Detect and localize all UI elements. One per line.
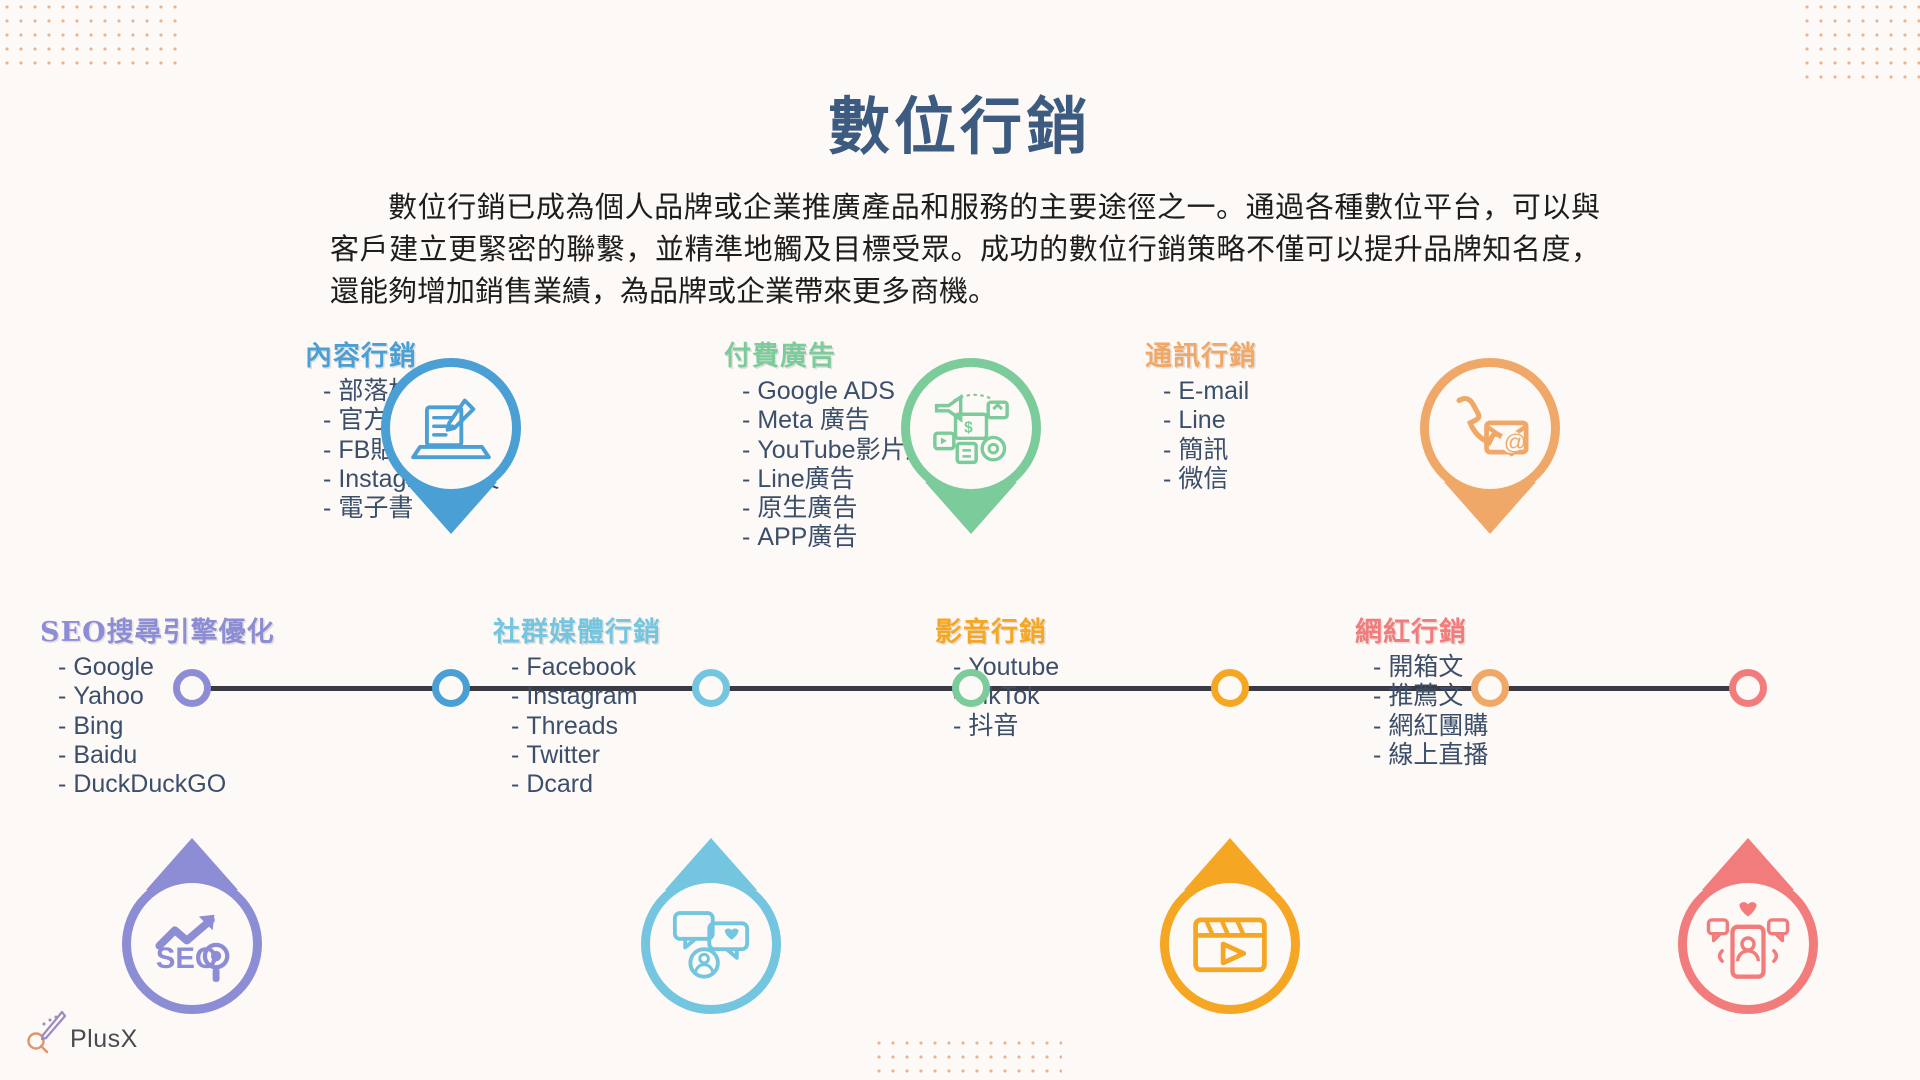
- list-bullet-dash: -: [323, 377, 331, 405]
- timeline-node-dot-messaging[interactable]: [1471, 669, 1509, 707]
- list-bullet-dash: -: [1373, 682, 1381, 710]
- label-list-seo: -Google-Yahoo-Bing-Baidu-DuckDuckGO: [40, 653, 275, 799]
- list-item: -微信: [1163, 465, 1257, 494]
- list-bullet-dash: -: [58, 712, 66, 740]
- timeline-node-dot-video[interactable]: [1211, 669, 1249, 707]
- timeline-pin-influencer[interactable]: [1678, 874, 1818, 1014]
- brand-name: PlusX: [70, 1025, 138, 1054]
- pin-circle-social: [641, 874, 781, 1014]
- list-item: -網紅團購: [1373, 712, 1488, 741]
- list-item: -DuckDuckGO: [58, 770, 275, 799]
- list-bullet-dash: -: [323, 406, 331, 434]
- list-bullet-dash: -: [58, 653, 66, 681]
- list-item: -E-mail: [1163, 377, 1257, 406]
- list-bullet-dash: -: [511, 712, 519, 740]
- brand-logo: PlusX: [22, 1008, 138, 1054]
- list-item: -抖音: [953, 712, 1059, 741]
- label-list-social: -Facebook-Instagram-Threads-Twitter-Dcar…: [493, 653, 661, 799]
- document-pen-laptop-icon: [408, 385, 494, 471]
- list-item: -Dcard: [511, 770, 661, 799]
- list-bullet-dash: -: [511, 682, 519, 710]
- page-title: 數位行銷: [0, 76, 1920, 166]
- list-bullet-dash: -: [511, 770, 519, 798]
- svg-text:$: $: [964, 419, 973, 436]
- list-bullet-dash: -: [511, 653, 519, 681]
- list-bullet-dash: -: [58, 682, 66, 710]
- timeline-node-dot-influencer[interactable]: [1729, 669, 1767, 707]
- dot-grid-top-right: [1800, 0, 1920, 80]
- pin-circle-paid: $: [901, 358, 1041, 498]
- list-item: -Twitter: [511, 741, 661, 770]
- timeline-pin-seo[interactable]: SEO: [122, 874, 262, 1014]
- list-bullet-dash: -: [1163, 436, 1171, 464]
- label-title-social: 社群媒體行銷: [493, 610, 661, 649]
- list-bullet-dash: -: [1373, 741, 1381, 769]
- pin-circle-video: [1160, 874, 1300, 1014]
- list-item: -Facebook: [511, 653, 661, 682]
- timeline-pin-video[interactable]: [1160, 874, 1300, 1014]
- list-item: -Bing: [58, 712, 275, 741]
- list-bullet-dash: -: [1373, 712, 1381, 740]
- timeline-pin-content[interactable]: [381, 358, 521, 498]
- list-bullet-dash: -: [742, 436, 750, 464]
- pin-circle-influencer: [1678, 874, 1818, 1014]
- timeline-node-dot-social[interactable]: [692, 669, 730, 707]
- list-bullet-dash: -: [742, 523, 750, 551]
- label-title-video: 影音行銷: [935, 610, 1059, 649]
- list-bullet-dash: -: [1373, 653, 1381, 681]
- label-title-seo: SEO搜尋引擎優化: [40, 610, 275, 649]
- list-item: -Line: [1163, 406, 1257, 435]
- label-title-messaging: 通訊行銷: [1145, 334, 1257, 373]
- pin-circle-messaging: @: [1420, 358, 1560, 498]
- list-item: -Yahoo: [58, 682, 275, 711]
- timeline-node-dot-seo[interactable]: [173, 669, 211, 707]
- list-item: -線上直播: [1373, 741, 1488, 770]
- list-bullet-dash: -: [323, 436, 331, 464]
- list-item: -Google: [58, 653, 275, 682]
- list-bullet-dash: -: [742, 465, 750, 493]
- video-play-clapper-icon: [1187, 901, 1273, 987]
- pin-circle-seo: SEO: [122, 874, 262, 1014]
- list-bullet-dash: -: [1163, 377, 1171, 405]
- timeline-node-dot-content[interactable]: [432, 669, 470, 707]
- list-bullet-dash: -: [323, 494, 331, 522]
- timeline-label-influencer: 網紅行銷-開箱文-推薦文-網紅團購-線上直播: [1355, 610, 1488, 770]
- dot-grid-bottom-center: [872, 1036, 1062, 1080]
- timeline-label-messaging: 通訊行銷-E-mail-Line-簡訊-微信: [1145, 334, 1257, 494]
- phone-person-chat-icon: [1705, 901, 1791, 987]
- timeline-label-seo: SEO搜尋引擎優化-Google-Yahoo-Bing-Baidu-DuckDu…: [40, 610, 275, 799]
- list-bullet-dash: -: [58, 741, 66, 769]
- timeline-node-dot-paid[interactable]: [952, 669, 990, 707]
- list-bullet-dash: -: [742, 494, 750, 522]
- timeline-pin-paid[interactable]: $: [901, 358, 1041, 498]
- list-bullet-dash: -: [323, 465, 331, 493]
- list-item: -APP廣告: [742, 523, 956, 552]
- list-item: -原生廣告: [742, 494, 956, 523]
- pin-circle-content: [381, 358, 521, 498]
- list-item: -開箱文: [1373, 653, 1488, 682]
- intro-paragraph: 數位行銷已成為個人品牌或企業推廣產品和服務的主要途徑之一。通過各種數位平台，可以…: [330, 186, 1600, 312]
- svg-text:@: @: [1504, 430, 1527, 455]
- list-item: -Baidu: [58, 741, 275, 770]
- label-list-messaging: -E-mail-Line-簡訊-微信: [1145, 377, 1257, 494]
- list-bullet-dash: -: [511, 741, 519, 769]
- timeline-pin-messaging[interactable]: @: [1420, 358, 1560, 498]
- label-title-influencer: 網紅行銷: [1355, 610, 1488, 649]
- list-item: -Threads: [511, 712, 661, 741]
- list-bullet-dash: -: [1163, 406, 1171, 434]
- timeline-label-video: 影音行銷-Youtube-TikTok-抖音: [935, 610, 1059, 741]
- megaphone-monitor-ads-icon: $: [928, 385, 1014, 471]
- timeline-label-social: 社群媒體行銷-Facebook-Instagram-Threads-Twitte…: [493, 610, 661, 799]
- list-bullet-dash: -: [953, 712, 961, 740]
- dot-grid-top-left: [0, 0, 186, 68]
- timeline-pin-social[interactable]: [641, 874, 781, 1014]
- list-bullet-dash: -: [742, 377, 750, 405]
- label-list-influencer: -開箱文-推薦文-網紅團購-線上直播: [1355, 653, 1488, 770]
- seo-chart-magnifier-icon: SEO: [149, 901, 235, 987]
- list-bullet-dash: -: [742, 406, 750, 434]
- list-item: -Instagram: [511, 682, 661, 711]
- list-bullet-dash: -: [58, 770, 66, 798]
- magnifier-pencil-logo-icon: [22, 1008, 68, 1054]
- list-item: -簡訊: [1163, 436, 1257, 465]
- phone-envelope-at-icon: @: [1447, 385, 1533, 471]
- chat-bubbles-heart-icon: [668, 901, 754, 987]
- list-bullet-dash: -: [1163, 465, 1171, 493]
